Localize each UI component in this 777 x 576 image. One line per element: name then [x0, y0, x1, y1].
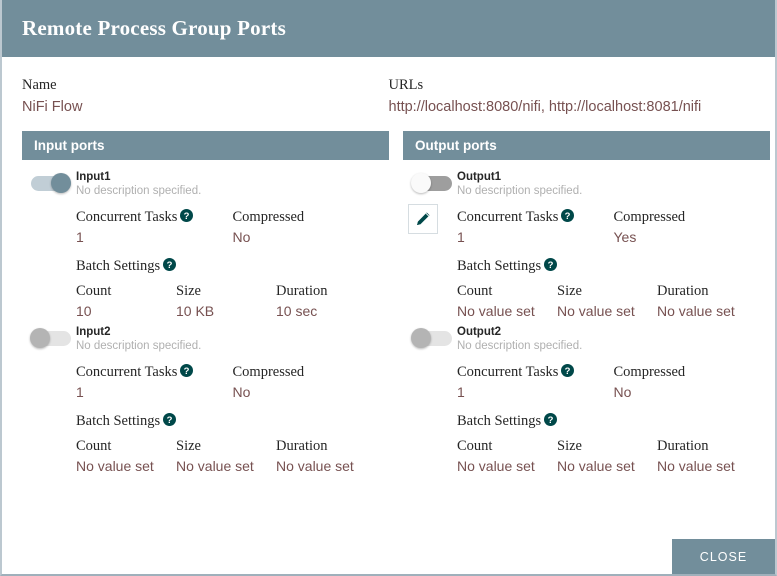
port-tasks-row: Concurrent Tasks?1CompressedNo — [76, 363, 389, 402]
urls-label: URLs — [389, 76, 756, 94]
urls-field: URLs http://localhost:8080/nifi, http://… — [389, 76, 756, 118]
remote-process-group-ports-dialog: Remote Process Group Ports Name NiFi Flo… — [0, 0, 777, 576]
batch-count-label: Count — [76, 437, 176, 455]
port-entry: Output2No description specified.Concurre… — [403, 321, 770, 476]
summary-row: Name NiFi Flow URLs http://localhost:808… — [22, 57, 755, 118]
batch-count-field: CountNo value set — [457, 437, 557, 476]
name-value: NiFi Flow — [22, 96, 389, 118]
help-icon[interactable]: ? — [163, 258, 176, 271]
port-enable-toggle[interactable] — [410, 328, 454, 348]
concurrent-tasks-field: Concurrent Tasks?1 — [76, 363, 233, 402]
port-name: Input2 — [76, 325, 389, 339]
batch-size-label: Size — [557, 282, 657, 300]
batch-count-field: CountNo value set — [457, 282, 557, 321]
concurrent-tasks-value: 1 — [457, 227, 614, 247]
batch-settings-row: CountNo value setSizeNo value setDuratio… — [457, 282, 770, 321]
help-icon[interactable]: ? — [544, 258, 557, 271]
compressed-field: CompressedNo — [614, 363, 771, 402]
concurrent-tasks-field: Concurrent Tasks?1 — [457, 208, 614, 247]
compressed-field: CompressedNo — [233, 363, 390, 402]
batch-settings-label: Batch Settings? — [76, 412, 389, 430]
input-ports-panel: Input ports Input1No description specifi… — [22, 131, 389, 476]
input-ports-header: Input ports — [22, 131, 389, 160]
port-tasks-row: Concurrent Tasks?1CompressedNo — [76, 208, 389, 247]
dialog-content: Name NiFi Flow URLs http://localhost:808… — [2, 57, 775, 476]
help-icon[interactable]: ? — [180, 364, 193, 377]
help-icon[interactable]: ? — [561, 209, 574, 222]
concurrent-tasks-label-text: Concurrent Tasks — [76, 209, 177, 225]
concurrent-tasks-label-text: Concurrent Tasks — [457, 364, 558, 380]
compressed-label: Compressed — [233, 363, 390, 381]
batch-duration-value: No value set — [657, 301, 757, 321]
batch-size-value: No value set — [557, 456, 657, 476]
batch-duration-field: DurationNo value set — [657, 437, 757, 476]
help-icon[interactable]: ? — [561, 364, 574, 377]
port-name: Output2 — [457, 325, 770, 339]
svg-text:?: ? — [548, 260, 554, 271]
svg-text:?: ? — [565, 366, 571, 377]
compressed-value: No — [233, 382, 390, 402]
concurrent-tasks-value: 1 — [76, 227, 233, 247]
concurrent-tasks-value: 1 — [457, 382, 614, 402]
batch-settings-label: Batch Settings? — [76, 257, 389, 275]
batch-duration-label: Duration — [276, 282, 376, 300]
svg-text:?: ? — [184, 366, 190, 377]
output-ports-panel: Output ports Output1No description speci… — [403, 131, 770, 476]
batch-duration-field: DurationNo value set — [657, 282, 757, 321]
batch-settings-row: Count10Size10 KBDuration10 sec — [76, 282, 389, 321]
pencil-icon — [415, 211, 431, 227]
dialog-titlebar: Remote Process Group Ports — [2, 0, 775, 57]
port-entry: Output1No description specified.Concurre… — [403, 166, 770, 321]
svg-text:?: ? — [548, 415, 554, 426]
batch-duration-label: Duration — [657, 437, 757, 455]
edit-port-button[interactable] — [408, 204, 438, 234]
port-enable-toggle[interactable] — [29, 328, 73, 348]
name-field: Name NiFi Flow — [22, 76, 389, 118]
port-enable-toggle[interactable] — [29, 173, 73, 193]
compressed-label: Compressed — [614, 363, 771, 381]
batch-duration-label: Duration — [276, 437, 376, 455]
batch-count-field: Count10 — [76, 282, 176, 321]
batch-duration-value: No value set — [657, 456, 757, 476]
concurrent-tasks-label: Concurrent Tasks? — [457, 363, 614, 381]
concurrent-tasks-label-text: Concurrent Tasks — [457, 209, 558, 225]
urls-value: http://localhost:8080/nifi, http://local… — [389, 96, 756, 118]
batch-size-label: Size — [557, 437, 657, 455]
compressed-value: No — [614, 382, 771, 402]
port-description: No description specified. — [76, 339, 389, 354]
port-description: No description specified. — [457, 184, 770, 199]
batch-count-value: No value set — [457, 456, 557, 476]
concurrent-tasks-label-text: Concurrent Tasks — [76, 364, 177, 380]
toggle-knob — [51, 173, 71, 193]
compressed-label: Compressed — [233, 208, 390, 226]
batch-count-value: No value set — [457, 301, 557, 321]
input-ports-list: Input1No description specified.Concurren… — [22, 160, 389, 476]
concurrent-tasks-label: Concurrent Tasks? — [76, 363, 233, 381]
batch-count-field: CountNo value set — [76, 437, 176, 476]
batch-settings-label-text: Batch Settings — [457, 413, 541, 429]
batch-duration-field: Duration10 sec — [276, 282, 376, 321]
port-name: Output1 — [457, 170, 770, 184]
batch-settings-label-text: Batch Settings — [457, 258, 541, 274]
batch-settings-row: CountNo value setSizeNo value setDuratio… — [76, 437, 389, 476]
ports-panels: Input ports Input1No description specifi… — [22, 131, 755, 476]
output-ports-header: Output ports — [403, 131, 770, 160]
name-label: Name — [22, 76, 389, 94]
svg-text:?: ? — [565, 211, 571, 222]
batch-count-label: Count — [76, 282, 176, 300]
concurrent-tasks-label: Concurrent Tasks? — [76, 208, 233, 226]
batch-size-value: No value set — [176, 456, 276, 476]
batch-duration-field: DurationNo value set — [276, 437, 376, 476]
svg-text:?: ? — [167, 415, 173, 426]
batch-settings-label: Batch Settings? — [457, 412, 770, 430]
svg-text:?: ? — [184, 211, 190, 222]
batch-settings-label-text: Batch Settings — [76, 258, 160, 274]
batch-count-label: Count — [457, 282, 557, 300]
batch-duration-label: Duration — [657, 282, 757, 300]
toggle-knob — [411, 173, 431, 193]
batch-size-field: SizeNo value set — [557, 437, 657, 476]
compressed-value: Yes — [614, 227, 771, 247]
compressed-field: CompressedNo — [233, 208, 390, 247]
output-ports-list: Output1No description specified.Concurre… — [403, 160, 770, 476]
port-description: No description specified. — [457, 339, 770, 354]
batch-duration-value: 10 sec — [276, 301, 376, 321]
batch-settings-label-text: Batch Settings — [76, 413, 160, 429]
concurrent-tasks-field: Concurrent Tasks?1 — [457, 363, 614, 402]
port-name: Input1 — [76, 170, 389, 184]
batch-size-field: Size10 KB — [176, 282, 276, 321]
compressed-value: No — [233, 227, 390, 247]
port-description: No description specified. — [76, 184, 389, 199]
batch-size-label: Size — [176, 437, 276, 455]
batch-size-field: SizeNo value set — [176, 437, 276, 476]
batch-size-field: SizeNo value set — [557, 282, 657, 321]
compressed-field: CompressedYes — [614, 208, 771, 247]
concurrent-tasks-label: Concurrent Tasks? — [457, 208, 614, 226]
svg-text:?: ? — [167, 260, 173, 271]
batch-size-value: No value set — [557, 301, 657, 321]
batch-size-value: 10 KB — [176, 301, 276, 321]
toggle-knob — [30, 328, 50, 348]
port-enable-toggle[interactable] — [410, 173, 454, 193]
close-button[interactable]: CLOSE — [672, 539, 775, 574]
batch-duration-value: No value set — [276, 456, 376, 476]
batch-count-value: 10 — [76, 301, 176, 321]
port-tasks-row: Concurrent Tasks?1CompressedYes — [457, 208, 770, 247]
batch-settings-label: Batch Settings? — [457, 257, 770, 275]
port-tasks-row: Concurrent Tasks?1CompressedNo — [457, 363, 770, 402]
page-title: Remote Process Group Ports — [22, 16, 286, 41]
compressed-label: Compressed — [614, 208, 771, 226]
batch-count-label: Count — [457, 437, 557, 455]
batch-size-label: Size — [176, 282, 276, 300]
help-icon[interactable]: ? — [163, 413, 176, 426]
toggle-knob — [411, 328, 431, 348]
concurrent-tasks-field: Concurrent Tasks?1 — [76, 208, 233, 247]
help-icon[interactable]: ? — [180, 209, 193, 222]
help-icon[interactable]: ? — [544, 413, 557, 426]
port-entry: Input2No description specified.Concurren… — [22, 321, 389, 476]
port-entry: Input1No description specified.Concurren… — [22, 166, 389, 321]
concurrent-tasks-value: 1 — [76, 382, 233, 402]
batch-count-value: No value set — [76, 456, 176, 476]
batch-settings-row: CountNo value setSizeNo value setDuratio… — [457, 437, 770, 476]
